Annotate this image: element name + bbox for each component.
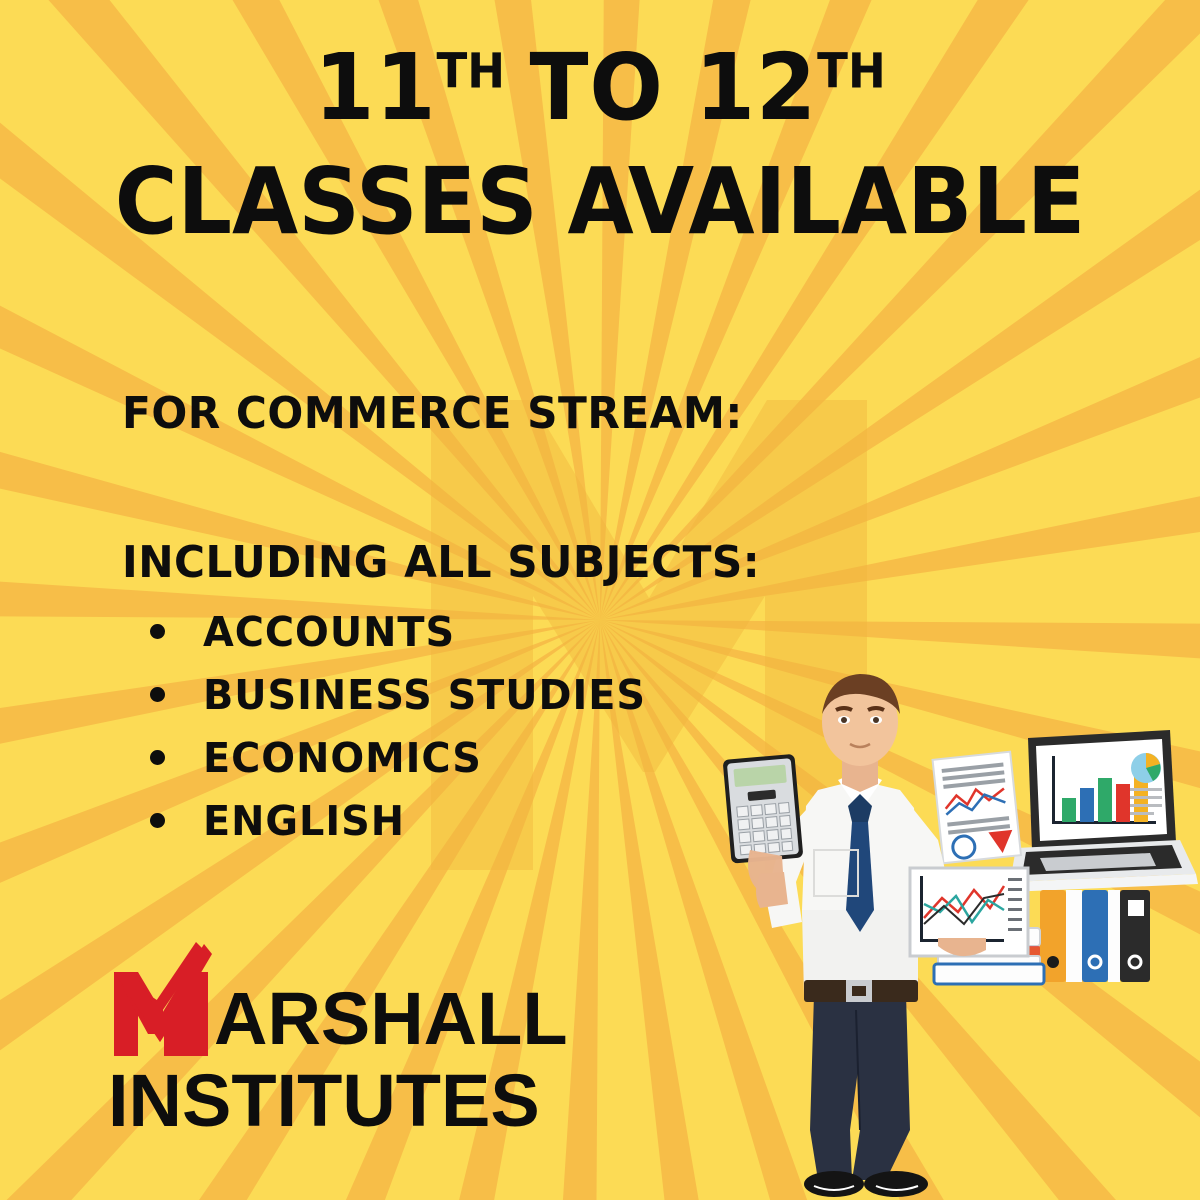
bullet-icon — [150, 750, 165, 765]
promotional-poster: 11THTO 12TH CLASSES AVAILABLE FOR COMMER… — [0, 0, 1200, 1200]
calculator-icon — [723, 754, 804, 864]
subject-list: ACCOUNTS BUSINESS STUDIES ECONOMICS ENGL… — [150, 600, 660, 852]
subject-label: ACCOUNTS — [203, 608, 455, 656]
headline-middle: TO 12 — [530, 34, 818, 141]
report-page-icon — [933, 752, 1021, 864]
headline-number-11: 11 — [314, 34, 436, 141]
subject-label: BUSINESS STUDIES — [203, 671, 646, 719]
list-item: ECONOMICS — [150, 726, 660, 789]
logo-word-marshall: ARSHALL — [214, 984, 568, 1054]
list-item: ENGLISH — [150, 789, 660, 852]
list-item: ACCOUNTS — [150, 600, 660, 663]
logo-word-institutes: INSTITUTES — [108, 1064, 568, 1138]
laptop-with-bar-chart-icon — [1008, 730, 1198, 892]
headline-block: 11THTO 12TH CLASSES AVAILABLE — [0, 42, 1200, 248]
bullet-icon — [150, 687, 165, 702]
headline-ordinal-th-2: TH — [817, 43, 886, 99]
businessman-illustration — [710, 660, 1200, 1200]
headline-primary: 11THTO 12TH — [36, 42, 1164, 134]
bullet-icon — [150, 624, 165, 639]
commerce-stream-label: FOR COMMERCE STREAM: — [122, 388, 743, 439]
headline-ordinal-th-1: TH — [437, 43, 506, 99]
headline-secondary: CLASSES AVAILABLE — [42, 156, 1158, 248]
list-item: BUSINESS STUDIES — [150, 663, 660, 726]
subject-label: ECONOMICS — [203, 734, 482, 782]
subject-label: ENGLISH — [203, 797, 405, 845]
brand-logo: ARSHALL INSTITUTES — [108, 955, 568, 1138]
bullet-icon — [150, 813, 165, 828]
marshall-m-icon — [108, 942, 212, 1060]
ring-binders-icon — [1040, 890, 1150, 982]
line-chart-document-icon — [910, 868, 1028, 956]
subjects-heading: INCLUDING ALL SUBJECTS: — [122, 537, 760, 588]
